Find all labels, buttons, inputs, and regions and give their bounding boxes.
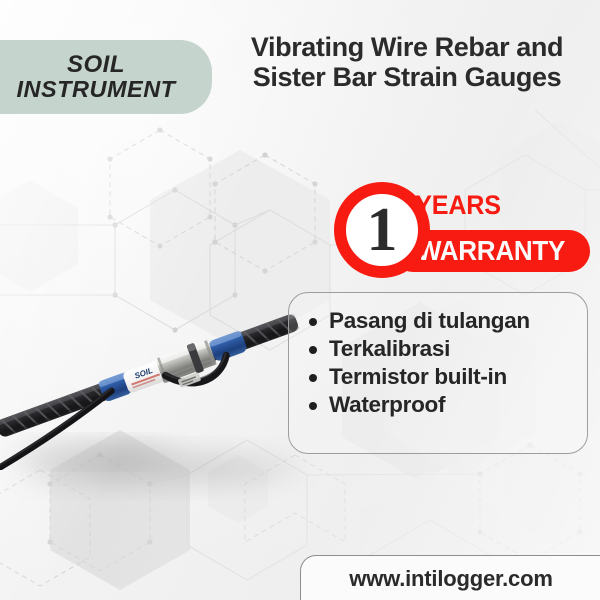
warranty-badge: WARRANTY YEARS 1	[330, 178, 592, 282]
brand-badge-line1: SOIL	[67, 52, 125, 77]
warranty-number: 1	[334, 182, 430, 278]
list-item: Waterproof	[329, 391, 530, 419]
page-title: Vibrating Wire Rebar and Sister Bar Stra…	[228, 32, 586, 92]
features-list: Pasang di tulangan Terkalibrasi Termisto…	[299, 307, 530, 419]
poster-canvas: SOIL	[0, 0, 600, 600]
brand-badge-line2: INSTRUMENT	[16, 77, 175, 102]
list-item: Terkalibrasi	[329, 335, 530, 363]
website-url[interactable]: www.intilogger.com	[301, 556, 600, 600]
website-box[interactable]: www.intilogger.com	[300, 555, 600, 600]
features-card: Pasang di tulangan Terkalibrasi Termisto…	[288, 292, 588, 454]
brand-badge: SOIL INSTRUMENT	[0, 40, 212, 114]
list-item: Pasang di tulangan	[329, 307, 530, 335]
rebar-strain-gauge-illustration: SOIL	[0, 280, 302, 470]
product-image: SOIL	[0, 280, 302, 470]
list-item: Termistor built-in	[329, 363, 530, 391]
